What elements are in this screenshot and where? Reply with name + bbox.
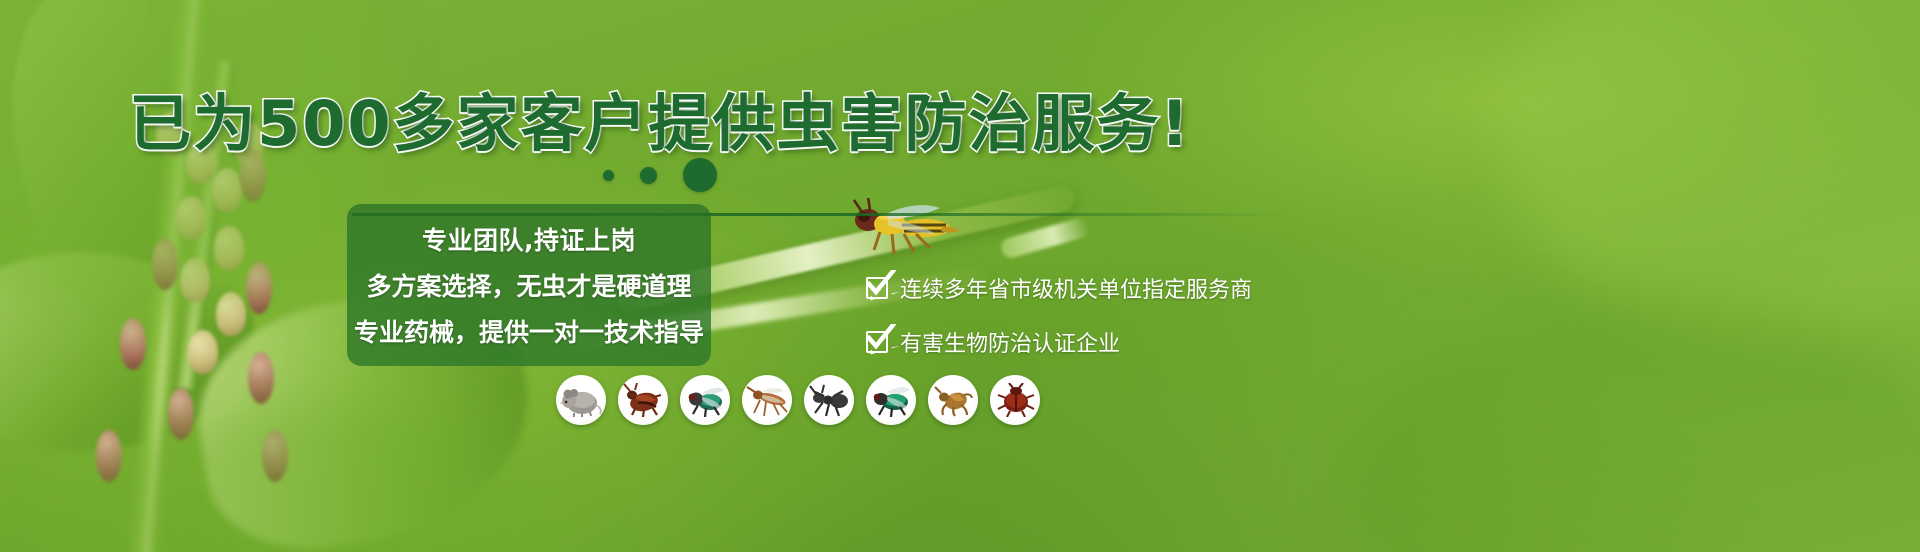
flea-icon[interactable]: 跳蚤 (928, 375, 978, 425)
list-item: 连续多年省市级机关单位指定服务商 (866, 272, 1252, 304)
selling-points-card: 专业团队,持证上岗 多方案选择，无虫才是硬道理 专业药械，提供一对一技术指导 (347, 204, 711, 366)
greenbottle-fly-icon[interactable]: 绿头蝇 (866, 375, 916, 425)
reddish-bud (246, 262, 272, 314)
mosquito-icon[interactable]: 蚊 (742, 375, 792, 425)
mouse-icon[interactable]: 鼠 (556, 375, 606, 425)
credential-label: 有害生物防治认证企业 (900, 326, 1120, 358)
bokeh-blob (1500, 0, 1920, 340)
decor-dot-row (0, 158, 1320, 192)
flower-bud (214, 226, 244, 270)
checkbox-checked-icon (866, 277, 888, 299)
flower-bud (176, 196, 206, 240)
list-item: 有害生物防治认证企业 (866, 326, 1252, 358)
decor-dot-medium (640, 167, 657, 184)
credentials-list: 连续多年省市级机关单位指定服务商 有害生物防治认证企业 (866, 272, 1252, 358)
bokeh-blob (1340, 300, 1920, 552)
ant-icon[interactable]: 蚂蚁 (804, 375, 854, 425)
reddish-bud (168, 388, 194, 440)
selling-point-line-3: 专业药械，提供一对一技术指导 (354, 313, 704, 349)
cockroach-icon[interactable]: 蟑螂 (618, 375, 668, 425)
hoverfly-icon (846, 198, 966, 260)
promo-banner: 已为500多家客户提供虫害防治服务! 专业团队,持证上岗 多方案选择，无虫才是硬… (0, 0, 1920, 552)
reddish-bud (248, 352, 274, 404)
bedbug-icon[interactable]: 臭虫 (990, 375, 1040, 425)
reddish-bud (262, 430, 288, 482)
blowfly-icon[interactable]: 苍蝇 (680, 375, 730, 425)
bokeh-blob (60, 400, 580, 552)
flower-bud (188, 330, 218, 374)
selling-point-line-1: 专业团队,持证上岗 (422, 221, 636, 257)
selling-point-line-2: 多方案选择，无虫才是硬道理 (366, 267, 691, 303)
decor-dot-small (603, 170, 614, 181)
leaf-shape (0, 213, 263, 498)
pest-icon-row: 鼠 蟑螂 苍蝇 (556, 375, 1040, 425)
reddish-bud (152, 238, 178, 290)
credential-label: 连续多年省市级机关单位指定服务商 (900, 272, 1252, 304)
flower-bud (216, 292, 246, 336)
page-title: 已为500多家客户提供虫害防治服务! (0, 73, 1320, 163)
reddish-bud (96, 430, 122, 482)
checkbox-checked-icon (866, 331, 888, 353)
flower-bud (180, 258, 210, 302)
decor-dot-large (683, 158, 717, 192)
reddish-bud (120, 318, 146, 370)
